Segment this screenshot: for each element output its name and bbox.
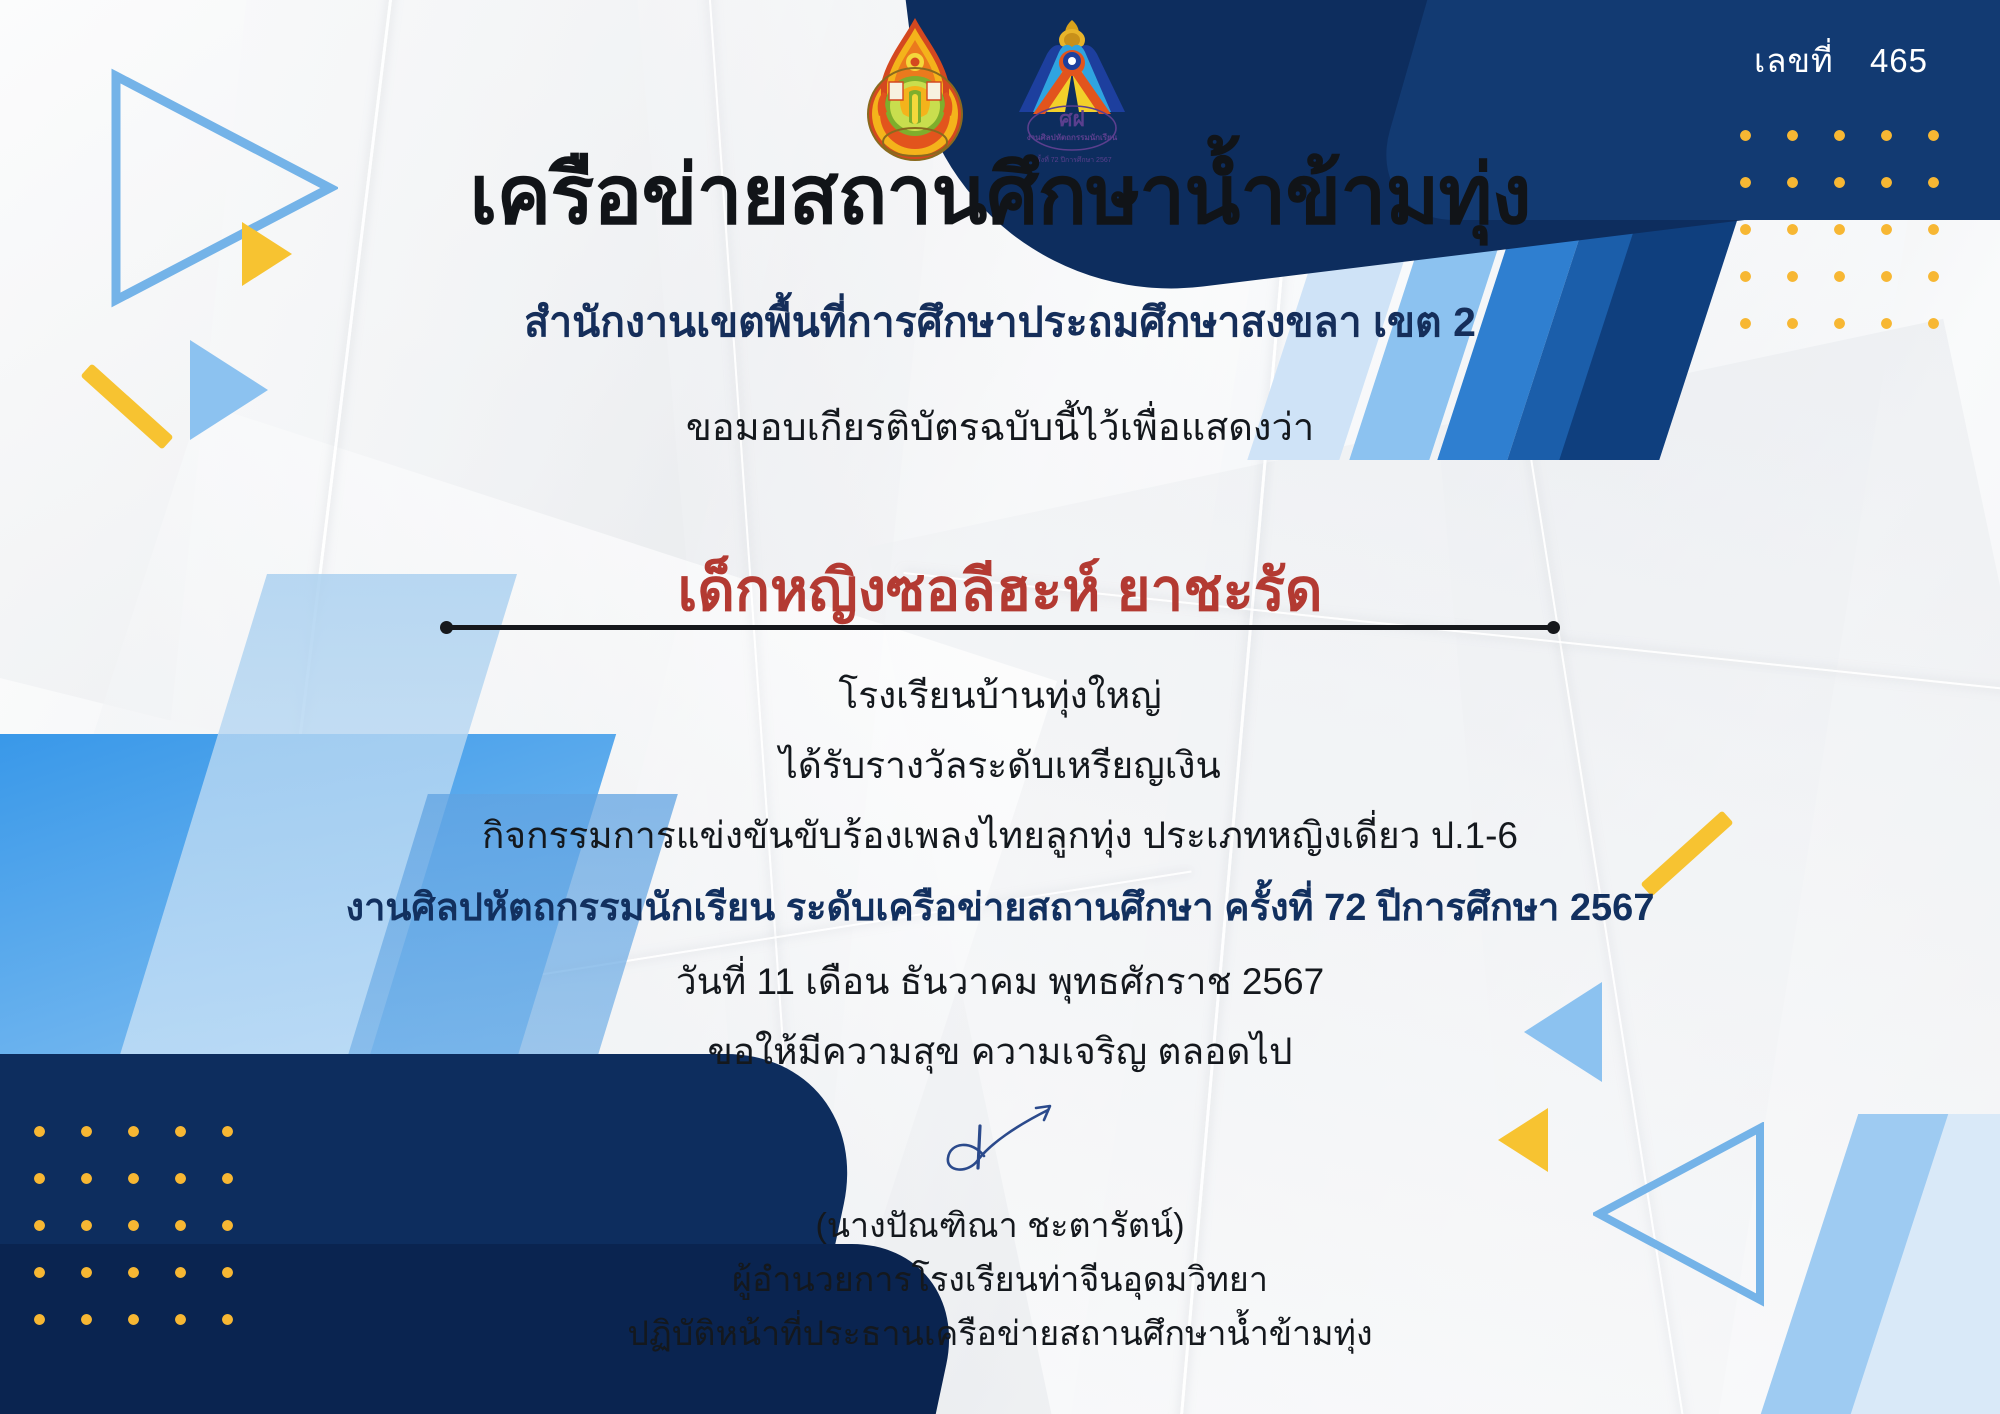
certificate-canvas: เลขที่ 465 bbox=[0, 0, 2000, 1414]
intro-text: ขอมอบเกียรติบัตรฉบับนี้ไว้เพื่อแสดงว่า bbox=[0, 396, 2000, 457]
logo-row: ศฝ งานศิลปหัตถกรรมนักเรียน ครั้งที่ 72 ป… bbox=[863, 14, 1137, 164]
wish-text: ขอให้มีความสุข ความเจริญ ตลอดไป bbox=[0, 1022, 2000, 1081]
svg-text:ศฝ: ศฝ bbox=[1059, 108, 1085, 131]
page-subtitle: สำนักงานเขตพื้นที่การศึกษาประถมศึกษาสงขล… bbox=[0, 290, 2000, 355]
issue-date: วันที่ 11 เดือน ธันวาคม พุทธศักราช 2567 bbox=[0, 952, 2000, 1011]
name-underline bbox=[450, 625, 1550, 630]
handwritten-signature-icon bbox=[920, 1096, 1080, 1186]
recipient-name: เด็กหญิงซอลีฮะห์ ยาชะรัด bbox=[0, 543, 2000, 636]
signer-role-2: ปฏิบัติหน้าที่ประธานเครือข่ายสถานศึกษาน้… bbox=[0, 1306, 2000, 1360]
event-name: งานศิลปหัตถกรรมนักเรียน ระดับเครือข่ายสถ… bbox=[0, 876, 2000, 937]
obec-emblem-icon bbox=[863, 14, 967, 164]
serial-number: เลขที่ 465 bbox=[1754, 34, 1928, 87]
signer-role-1: ผู้อำนวยการโรงเรียนท่าจีนอุดมวิทยา bbox=[0, 1252, 2000, 1306]
activity-name: กิจกรรมการแข่งขันขับร้องเพลงไทยลูกทุ่ง ป… bbox=[0, 806, 2000, 865]
student-arts-festival-logo-icon: ศฝ งานศิลปหัตถกรรมนักเรียน ครั้งที่ 72 ป… bbox=[1007, 14, 1137, 164]
serial-label: เลขที่ bbox=[1754, 42, 1834, 79]
svg-text:งานศิลปหัตถกรรมนักเรียน: งานศิลปหัตถกรรมนักเรียน bbox=[1027, 132, 1118, 142]
award-level: ได้รับรางวัลระดับเหรียญเงิน bbox=[0, 736, 2000, 795]
signer-name: (นางปัณฑิณา ชะตารัตน์) bbox=[0, 1198, 2000, 1252]
serial-value: 465 bbox=[1870, 42, 1928, 79]
recipient-school: โรงเรียนบ้านทุ่งใหญ่ bbox=[0, 666, 2000, 725]
page-title: เครือข่ายสถานศึกษาน้ำข้ามทุ่ง bbox=[0, 152, 2000, 241]
